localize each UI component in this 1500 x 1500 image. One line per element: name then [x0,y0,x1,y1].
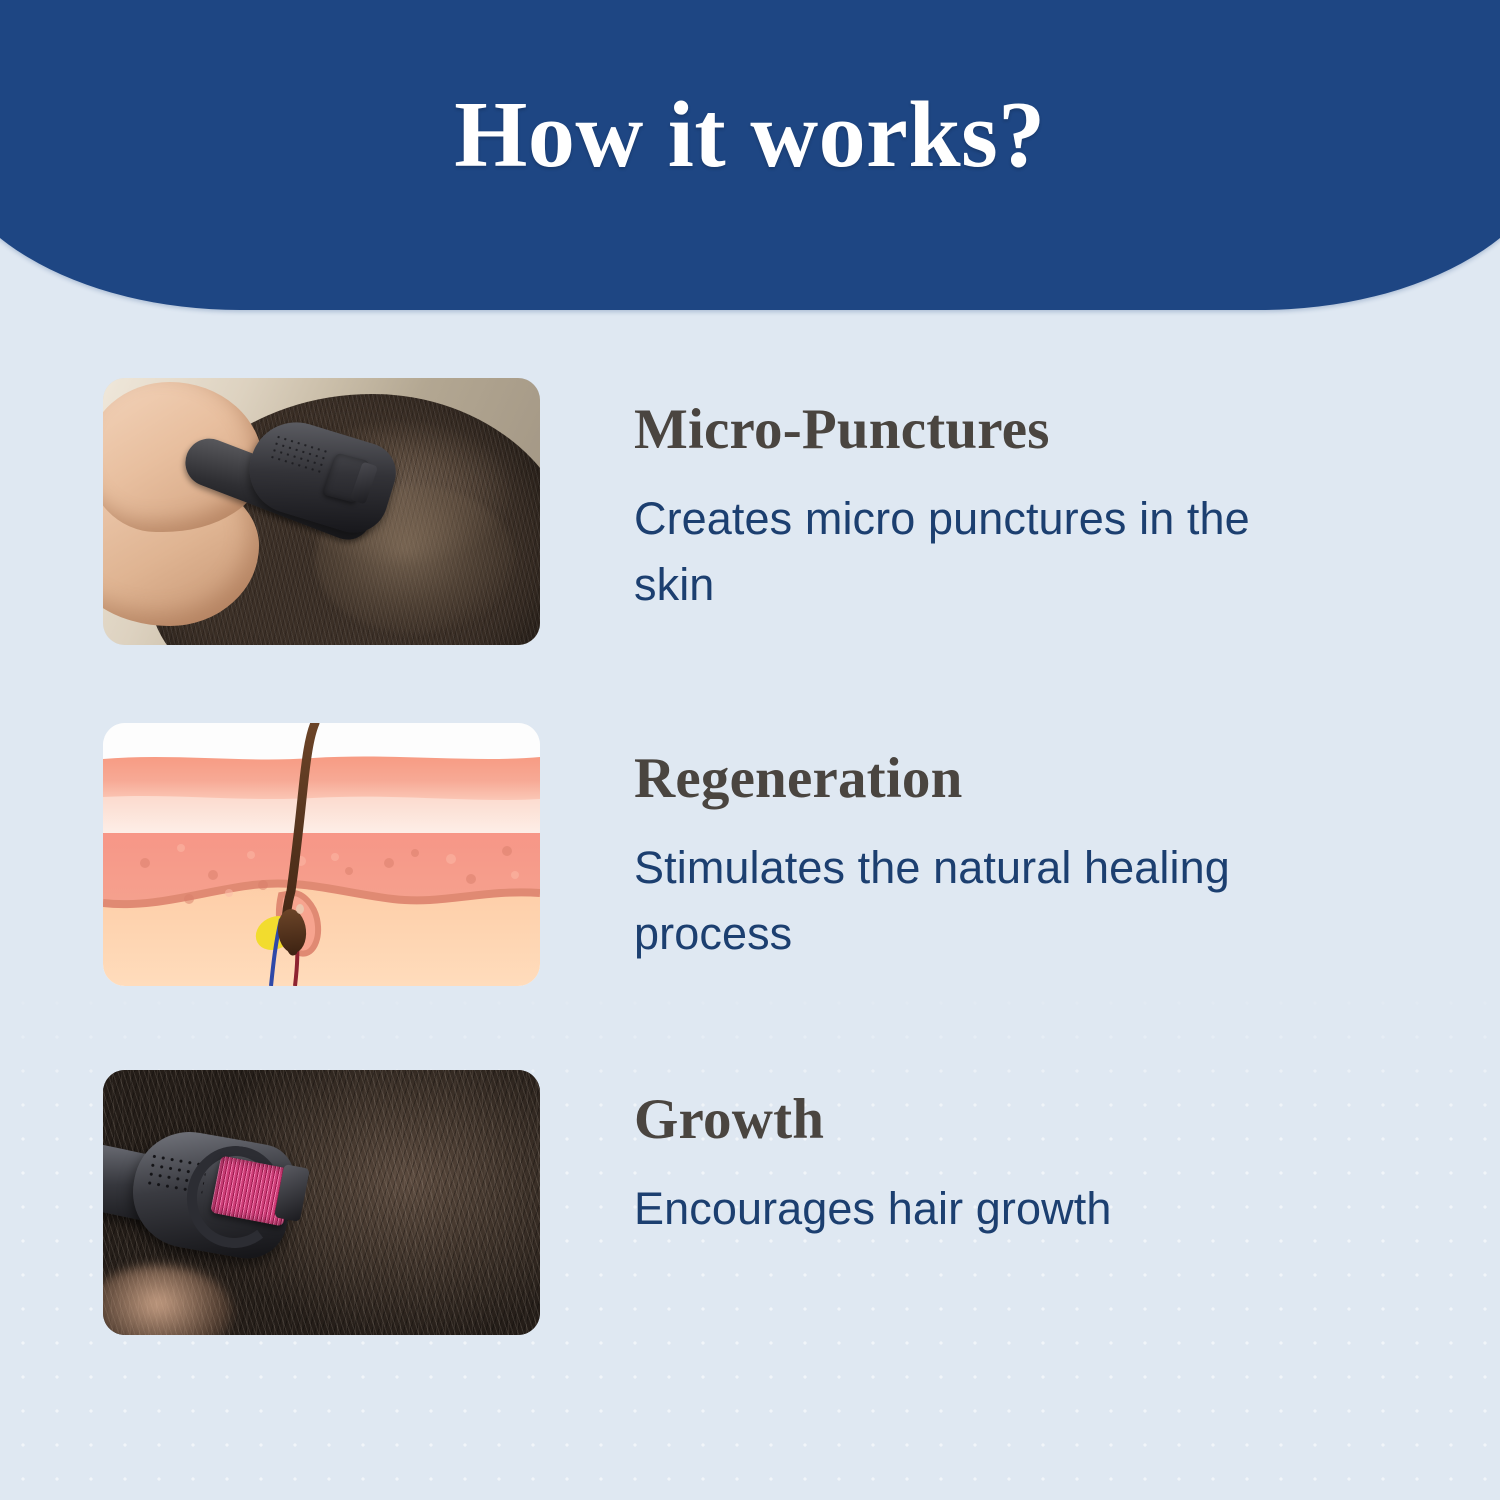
derma-roller-closeup-photo [103,1070,540,1335]
page-title: How it works? [0,88,1500,182]
feature-text-micro-punctures: Micro-Punctures Creates micro punctures … [540,378,1433,618]
skin-layers-svg [103,723,540,986]
feature-row-regeneration: Regeneration Stimulates the natural heal… [103,723,1433,986]
feature-text-regeneration: Regeneration Stimulates the natural heal… [540,723,1433,967]
feature-description: Encourages hair growth [634,1176,1314,1242]
feature-row-micro-punctures: Micro-Punctures Creates micro punctures … [103,378,1433,645]
skin-cross-section-diagram [103,723,540,986]
feature-title: Growth [634,1090,1433,1150]
feature-row-growth: Growth Encourages hair growth [103,1070,1433,1335]
feature-text-growth: Growth Encourages hair growth [540,1070,1433,1242]
header-banner: How it works? [0,0,1500,310]
feature-description: Creates micro punctures in the skin [634,486,1314,617]
feature-description: Stimulates the natural healing process [634,835,1314,966]
feature-title: Regeneration [634,749,1433,809]
how-it-works-infographic: How it works? Micro-Punctures Creates mi… [0,0,1500,1500]
derma-roller-on-scalp-photo [103,378,540,645]
papilla-highlight [296,904,304,914]
feature-title: Micro-Punctures [634,400,1433,460]
